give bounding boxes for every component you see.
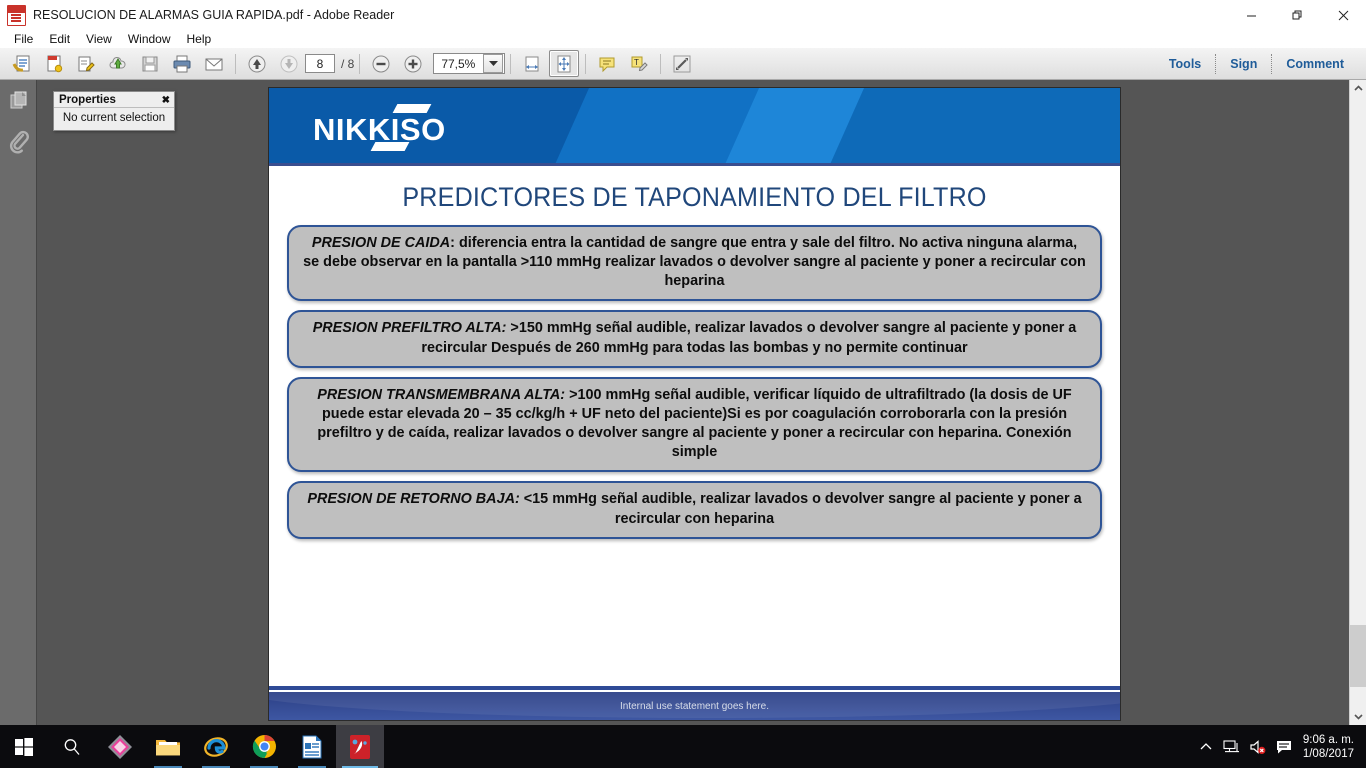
content-box: PRESION DE RETORNO BAJA: <15 mmHg señal … — [287, 481, 1102, 538]
comment-button[interactable]: Comment — [1272, 57, 1358, 71]
tools-button[interactable]: Tools — [1155, 57, 1215, 71]
toolbar-separator — [235, 54, 236, 74]
vertical-scrollbar[interactable] — [1349, 80, 1366, 725]
network-icon[interactable] — [1219, 725, 1245, 768]
content-box: PRESION PREFILTRO ALTA: >150 mmHg señal … — [287, 310, 1102, 367]
box-lead: PRESION PREFILTRO ALTA: — [313, 320, 507, 336]
content-box: PRESION TRANSMEMBRANA ALTA: >100 mmHg se… — [287, 377, 1102, 473]
sign-button[interactable]: Sign — [1216, 57, 1271, 71]
minimize-button[interactable] — [1228, 0, 1274, 30]
zoom-in-icon[interactable] — [398, 50, 428, 77]
highlight-text-icon[interactable]: T — [624, 50, 654, 77]
upload-cloud-icon[interactable] — [103, 50, 133, 77]
page-total-label: / 8 — [341, 57, 354, 71]
show-desktop-button[interactable] — [1360, 725, 1366, 768]
toolbar-separator — [510, 54, 511, 74]
arrow-up-icon[interactable] — [242, 50, 272, 77]
zoom-value[interactable]: 77,5% — [434, 57, 482, 71]
properties-header: Properties ✖ — [54, 92, 174, 108]
nikkiso-logo: NIKKISO — [307, 102, 507, 150]
box-body: <15 mmHg señal audible, realizar lavados… — [520, 491, 1082, 526]
page-number-input[interactable]: 8 — [305, 54, 335, 73]
pink-diamond-app-icon[interactable] — [96, 725, 144, 768]
show-hidden-icons-chevron[interactable] — [1193, 725, 1219, 768]
windows-taskbar: 9:06 a. m. 1/08/2017 — [0, 725, 1366, 768]
box-lead: PRESION DE RETORNO BAJA: — [307, 491, 519, 507]
menu-edit[interactable]: Edit — [41, 31, 78, 47]
toolbar-separator — [585, 54, 586, 74]
start-windows-icon[interactable] — [0, 725, 48, 768]
navigation-pane — [0, 80, 37, 725]
slide-title: PREDICTORES DE TAPONAMIENTO DEL FILTRO — [299, 182, 1090, 213]
menu-help[interactable]: Help — [179, 31, 220, 47]
email-icon[interactable] — [199, 50, 229, 77]
menu-window[interactable]: Window — [120, 31, 179, 47]
menu-file[interactable]: File — [6, 31, 41, 47]
content-box: PRESION DE CAIDA: diferencia entra la ca… — [287, 225, 1102, 301]
close-icon[interactable]: ✖ — [162, 95, 170, 106]
brand-banner: NIKKISO — [269, 88, 1120, 163]
scroll-up-icon[interactable] — [1350, 80, 1366, 97]
pdf-document-icon — [7, 5, 26, 26]
toolbar-right-links: Tools Sign Comment — [1155, 48, 1358, 79]
zoom-control[interactable]: 77,5% — [433, 53, 505, 74]
title-bar: RESOLUCION DE ALARMAS GUIA RAPIDA.pdf - … — [0, 0, 1366, 30]
menu-bar: File Edit View Window Help — [0, 30, 1366, 48]
attachments-paperclip-icon[interactable] — [0, 122, 37, 164]
create-pdf-icon[interactable] — [39, 50, 69, 77]
expand-arrows-icon[interactable] — [667, 50, 697, 77]
banner-rule-light — [269, 166, 1120, 168]
restore-button[interactable] — [1274, 0, 1320, 30]
properties-panel[interactable]: Properties ✖ No current selection — [53, 91, 175, 131]
zoom-out-icon[interactable] — [366, 50, 396, 77]
internet-explorer-icon[interactable] — [192, 725, 240, 768]
print-icon[interactable] — [167, 50, 197, 77]
footer-text: Internal use statement goes here. — [269, 701, 1120, 712]
adobe-reader-icon[interactable] — [336, 725, 384, 768]
toolbar-separator — [660, 54, 661, 74]
menu-view[interactable]: View — [78, 31, 120, 47]
document-app-icon[interactable] — [288, 725, 336, 768]
window-title: RESOLUCION DE ALARMAS GUIA RAPIDA.pdf - … — [33, 8, 394, 22]
sign-edit-icon[interactable] — [71, 50, 101, 77]
content-boxes: PRESION DE CAIDA: diferencia entra la ca… — [269, 225, 1120, 539]
pdf-page: NIKKISO PREDICTORES DE TAPONAMIENTO DEL … — [269, 88, 1120, 720]
fit-width-icon[interactable] — [517, 50, 547, 77]
svg-text:T: T — [634, 58, 639, 67]
volume-muted-icon[interactable] — [1245, 725, 1271, 768]
google-chrome-icon[interactable] — [240, 725, 288, 768]
clock-date: 1/08/2017 — [1303, 747, 1354, 761]
search-icon[interactable] — [48, 725, 96, 768]
document-viewer[interactable]: NIKKISO PREDICTORES DE TAPONAMIENTO DEL … — [37, 80, 1366, 725]
clock[interactable]: 9:06 a. m. 1/08/2017 — [1303, 733, 1354, 761]
slide-footer: Internal use statement goes here. — [269, 686, 1120, 720]
main-toolbar: 8 / 8 77,5% T — [0, 48, 1366, 80]
file-explorer-icon[interactable] — [144, 725, 192, 768]
chevron-down-icon[interactable] — [483, 54, 503, 73]
window-controls — [1228, 0, 1366, 30]
arrow-down-icon[interactable] — [274, 50, 304, 77]
close-button[interactable] — [1320, 0, 1366, 30]
page-thumbnails-icon[interactable] — [0, 80, 37, 122]
toolbar-separator — [359, 54, 360, 74]
logo-parallelogram-bottom — [371, 142, 410, 151]
scroll-down-icon[interactable] — [1350, 708, 1366, 725]
sticky-note-icon[interactable] — [592, 50, 622, 77]
properties-title: Properties — [59, 94, 116, 106]
notifications-icon[interactable] — [1271, 725, 1297, 768]
adobe-reader-window: RESOLUCION DE ALARMAS GUIA RAPIDA.pdf - … — [0, 0, 1366, 768]
box-body: >150 mmHg señal audible, realizar lavado… — [421, 320, 1076, 355]
fit-page-icon[interactable] — [549, 50, 579, 77]
save-icon[interactable] — [135, 50, 165, 77]
open-file-icon[interactable] — [7, 50, 37, 77]
properties-body: No current selection — [54, 108, 174, 130]
system-tray: 9:06 a. m. 1/08/2017 — [1193, 725, 1366, 768]
clock-time: 9:06 a. m. — [1303, 733, 1354, 747]
box-lead: PRESION DE CAIDA — [312, 235, 450, 251]
scrollbar-thumb[interactable] — [1350, 625, 1366, 687]
footer-bar: Internal use statement goes here. — [269, 692, 1120, 720]
box-lead: PRESION TRANSMEMBRANA ALTA: — [317, 387, 565, 403]
